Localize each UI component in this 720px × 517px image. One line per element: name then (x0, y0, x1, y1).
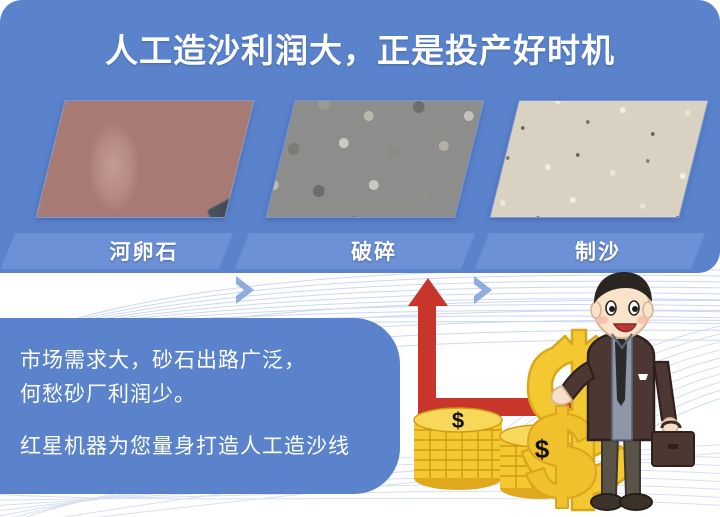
message-line-2: 何愁砂厂利润少。 (20, 378, 196, 408)
manufactured-sand-photo (489, 100, 708, 218)
process-steps: 河卵石 破碎 制沙 (0, 95, 720, 273)
river-pebbles-photo (35, 100, 254, 218)
svg-text:$: $ (535, 434, 550, 464)
process-step-label: 制沙 (492, 233, 704, 269)
phone-scale-reference (206, 183, 255, 218)
svg-text:$: $ (452, 408, 464, 433)
page-title: 人工造沙利润大，正是投产好时机 (0, 24, 720, 72)
crushed-gravel-photo (265, 100, 484, 218)
process-step-label: 河卵石 (38, 233, 250, 269)
promotional-banner: 人工造沙利润大，正是投产好时机 河卵石 破碎 制沙 (0, 0, 720, 517)
message-card: 市场需求大，砂石出路广泛， 何愁砂厂利润少。 红星机器为您量身打造人工造沙线 (0, 318, 400, 494)
process-step-crushing[interactable]: 破碎 (268, 95, 480, 273)
chevron-right-icon (232, 273, 262, 307)
message-line-1: 市场需求大，砂石出路广泛， (20, 344, 306, 374)
message-line-3: 红星机器为您量身打造人工造沙线 (20, 430, 350, 460)
process-step-river-pebbles[interactable]: 河卵石 (38, 95, 250, 273)
process-step-sand-making[interactable]: 制沙 (492, 95, 704, 273)
gold-coin-stack-left: $ (414, 408, 502, 490)
businessman-with-money-illustration: $ $ $ (390, 270, 720, 517)
process-step-label: 破碎 (268, 233, 480, 269)
